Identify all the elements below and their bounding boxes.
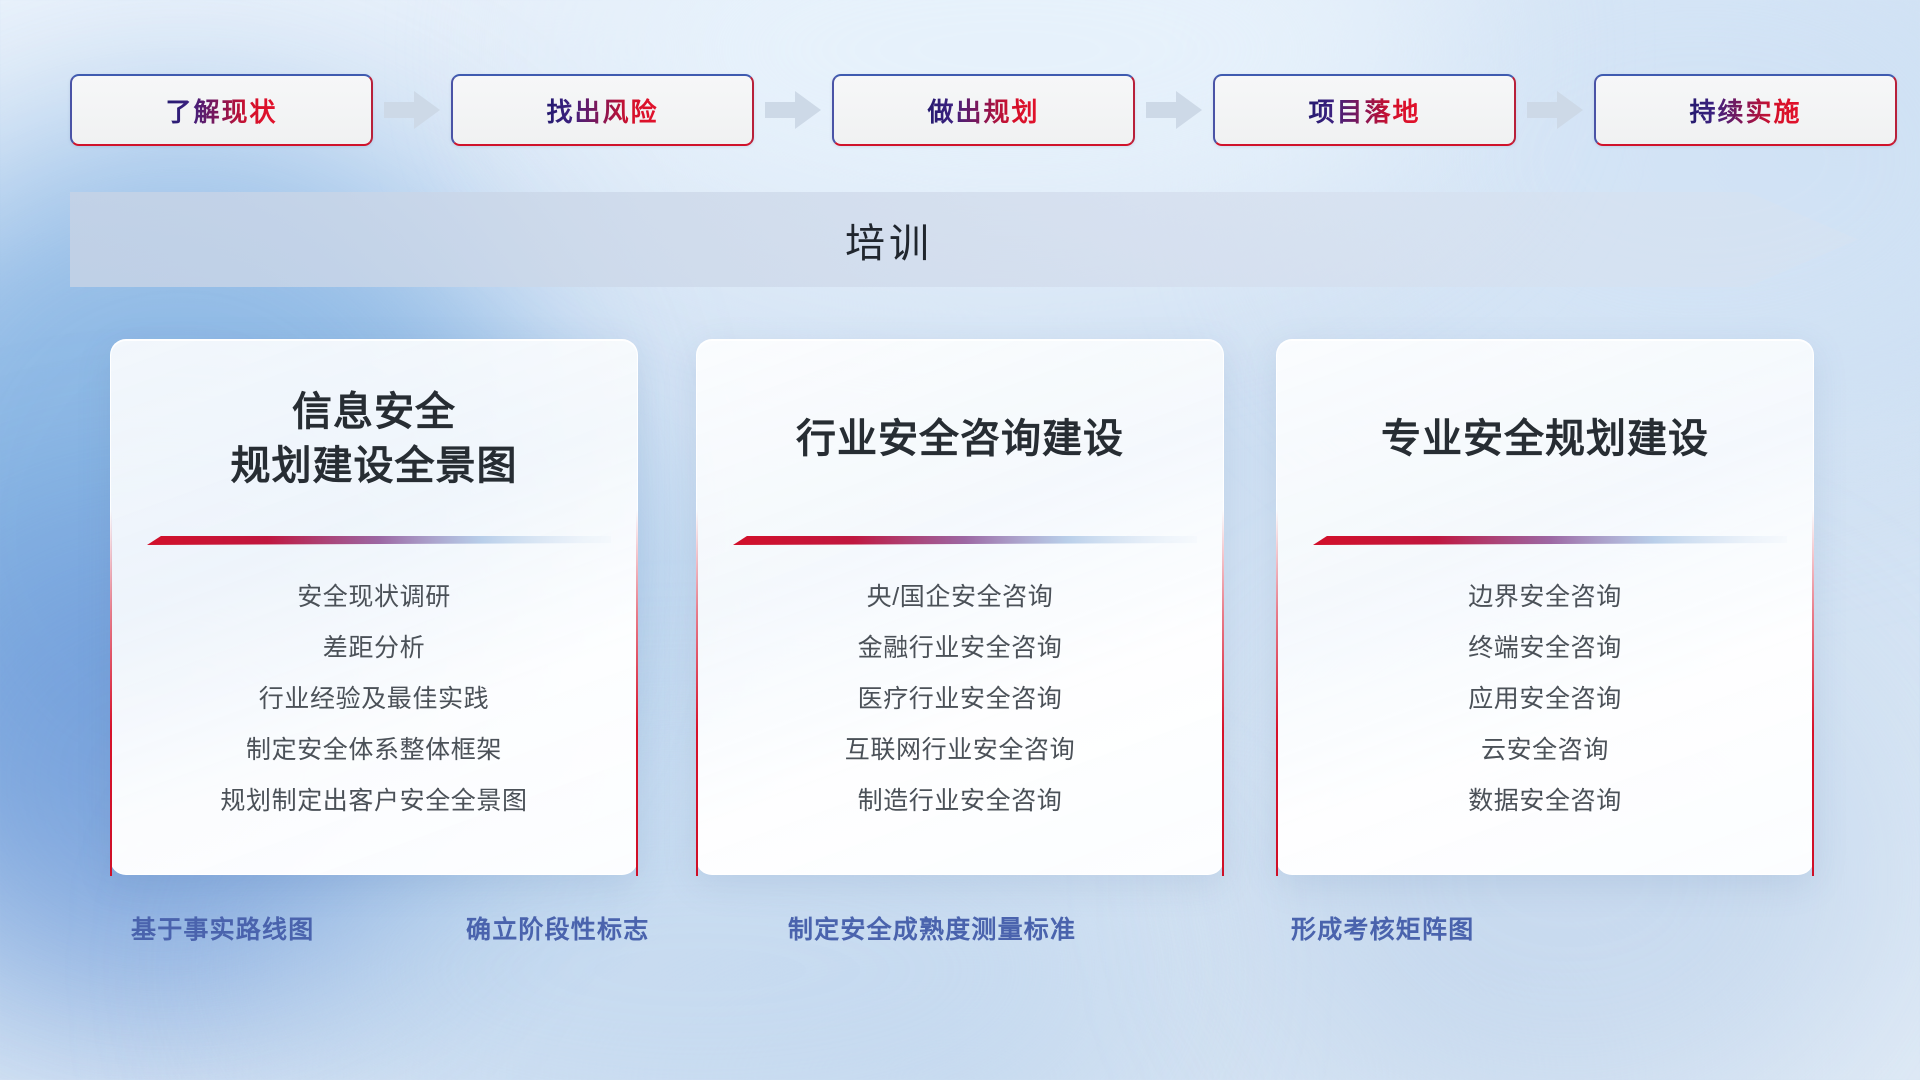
list-item: 互联网行业安全咨询 [845,725,1075,776]
step-button-1[interactable]: 了解现状 [70,74,373,146]
card-professional-security-planning[interactable]: 专业安全规划建设 边界安全咨询 终端安全咨询 应用安全咨询 [1276,339,1814,875]
card-item-list: 安全现状调研 差距分析 行业经验及最佳实践 制定安全体系整体框架 规划制定出客户… [111,572,637,827]
list-item: 云安全咨询 [1481,725,1609,776]
arrow-right-icon [1146,91,1202,129]
list-item: 应用安全咨询 [1468,674,1622,725]
step-button-2[interactable]: 找出风险 [451,74,754,146]
card-divider [733,534,1197,546]
card-header: 信息安全 规划建设全景图 [111,340,637,540]
list-item: 数据安全咨询 [1468,776,1622,827]
step-label: 找出风险 [546,92,658,129]
step-label: 做出规划 [927,92,1039,129]
card-title: 专业安全规划建设 [1381,413,1709,467]
list-item: 行业经验及最佳实践 [259,674,489,725]
card-header: 行业安全咨询建设 [697,340,1223,540]
list-item: 医疗行业安全咨询 [858,674,1063,725]
step-button-3[interactable]: 做出规划 [832,74,1135,146]
step-button-4[interactable]: 项目落地 [1213,74,1516,146]
outcome-label-matrix: 形成考核矩阵图 [1291,910,1474,946]
list-item: 差距分析 [323,623,425,674]
card-industry-security-consulting[interactable]: 行业安全咨询建设 央/国企安全咨询 金融行业安全咨询 医疗行业安全咨 [696,339,1224,875]
outcome-label-maturity: 制定安全成熟度测量标准 [788,910,1076,946]
card-item-list: 央/国企安全咨询 金融行业安全咨询 医疗行业安全咨询 互联网行业安全咨询 制造行… [697,572,1223,827]
training-banner: 培训 [70,192,1858,287]
step-button-5[interactable]: 持续实施 [1594,74,1897,146]
card-item-list: 边界安全咨询 终端安全咨询 应用安全咨询 云安全咨询 数据安全咨询 [1277,572,1813,827]
step-label: 持续实施 [1689,92,1801,129]
list-item: 安全现状调研 [297,572,451,623]
list-item: 制造行业安全咨询 [858,776,1063,827]
training-banner-label: 培训 [70,192,1858,287]
outcome-label-roadmap: 基于事实路线图 [131,910,314,946]
card-group: 信息安全 规划建设全景图 安全现状调研 差距分析 行业经验及最佳实践 [0,333,1920,878]
list-item: 金融行业安全咨询 [858,623,1063,674]
card-information-security-blueprint[interactable]: 信息安全 规划建设全景图 安全现状调研 差距分析 行业经验及最佳实践 [110,339,638,875]
card-header: 专业安全规划建设 [1277,340,1813,540]
arrow-right-icon [765,91,821,129]
list-item: 规划制定出客户安全全景图 [220,776,527,827]
list-item: 边界安全咨询 [1468,572,1622,623]
card-title: 行业安全咨询建设 [796,413,1124,467]
card-divider [1313,534,1787,546]
step-label: 了解现状 [165,92,277,129]
list-item: 终端安全咨询 [1468,623,1622,674]
outcome-label-row: 基于事实路线图 确立阶段性标志 制定安全成熟度测量标准 形成考核矩阵图 [0,910,1920,966]
card-title: 信息安全 规划建设全景图 [231,386,518,493]
card-divider [147,534,611,546]
arrow-right-icon [384,91,440,129]
process-step-flow: 了解现状 找出风险 做出规划 项目落地 持续实施 [70,70,1860,150]
arrow-right-icon [1527,91,1583,129]
list-item: 央/国企安全咨询 [867,572,1054,623]
outcome-label-milestone: 确立阶段性标志 [466,910,649,946]
list-item: 制定安全体系整体框架 [246,725,502,776]
step-label: 项目落地 [1308,92,1420,129]
